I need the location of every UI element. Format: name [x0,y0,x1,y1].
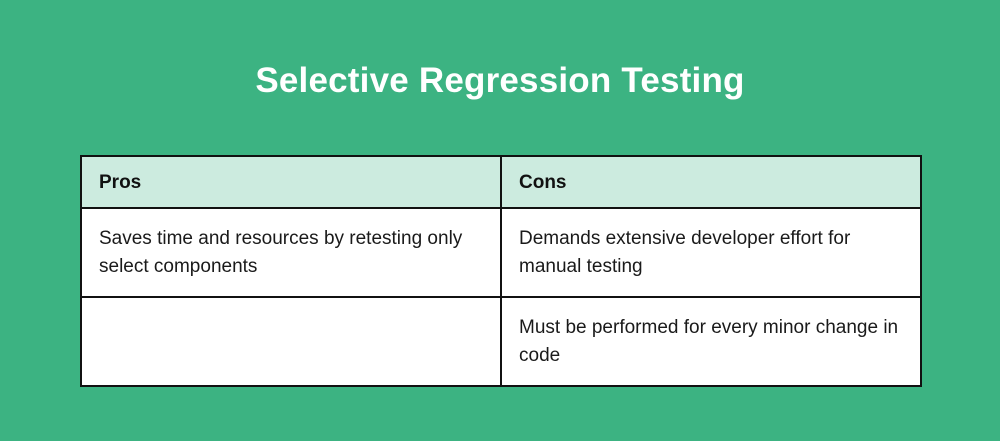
cell-pros-2 [81,297,501,386]
column-header-cons: Cons [501,156,921,208]
table-header: Pros Cons [81,156,921,208]
page-title: Selective Regression Testing [0,60,1000,102]
cell-pros-1: Saves time and resources by retesting on… [81,208,501,297]
table-body: Saves time and resources by retesting on… [81,208,921,386]
pros-cons-table: Pros Cons Saves time and resources by re… [80,155,922,387]
column-header-pros: Pros [81,156,501,208]
table-row: Saves time and resources by retesting on… [81,208,921,297]
cell-cons-1: Demands extensive developer effort for m… [501,208,921,297]
cell-cons-2: Must be performed for every minor change… [501,297,921,386]
slide-canvas: Selective Regression Testing Pros Cons S… [0,0,1000,441]
table-row: Must be performed for every minor change… [81,297,921,386]
table-header-row: Pros Cons [81,156,921,208]
